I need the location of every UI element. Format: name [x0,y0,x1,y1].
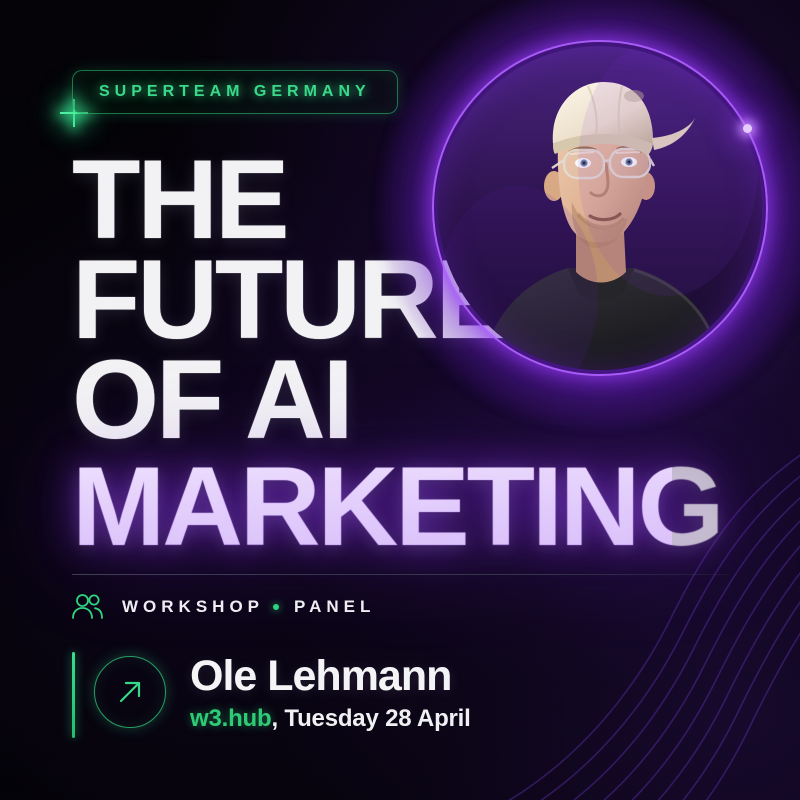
speaker-accent-bar [72,652,75,738]
arrow-up-right-button[interactable] [94,656,166,728]
organization-badge[interactable]: SUPERTEAM GERMANY [72,70,398,114]
portrait-ring [432,40,768,376]
ring-sparkle-icon [743,124,752,133]
divider [72,574,730,575]
dot-separator-icon [273,604,279,610]
event-format-item-1: WORKSHOP [122,597,264,617]
speaker-venue-date: w3.hub, Tuesday 28 April [190,705,471,733]
speaker-info: Ole Lehmann w3.hub, Tuesday 28 April [190,654,471,733]
organization-badge-label: SUPERTEAM GERMANY [99,83,371,101]
event-date: , Tuesday 28 April [271,705,470,732]
people-icon [70,592,104,622]
event-format-row: WORKSHOP PANEL [70,592,375,622]
venue-label: w3.hub [190,705,271,732]
event-format-item-2: PANEL [294,597,375,617]
event-format-label: WORKSHOP PANEL [122,597,375,617]
event-poster: SUPERTEAM GERMANY THE FUTURE OF AI MARKE… [0,0,800,800]
speaker-name: Ole Lehmann [190,654,471,699]
arrow-up-right-icon [113,675,147,709]
headline-line-4-accent: MARKETING [72,457,672,563]
avatar [432,40,768,376]
